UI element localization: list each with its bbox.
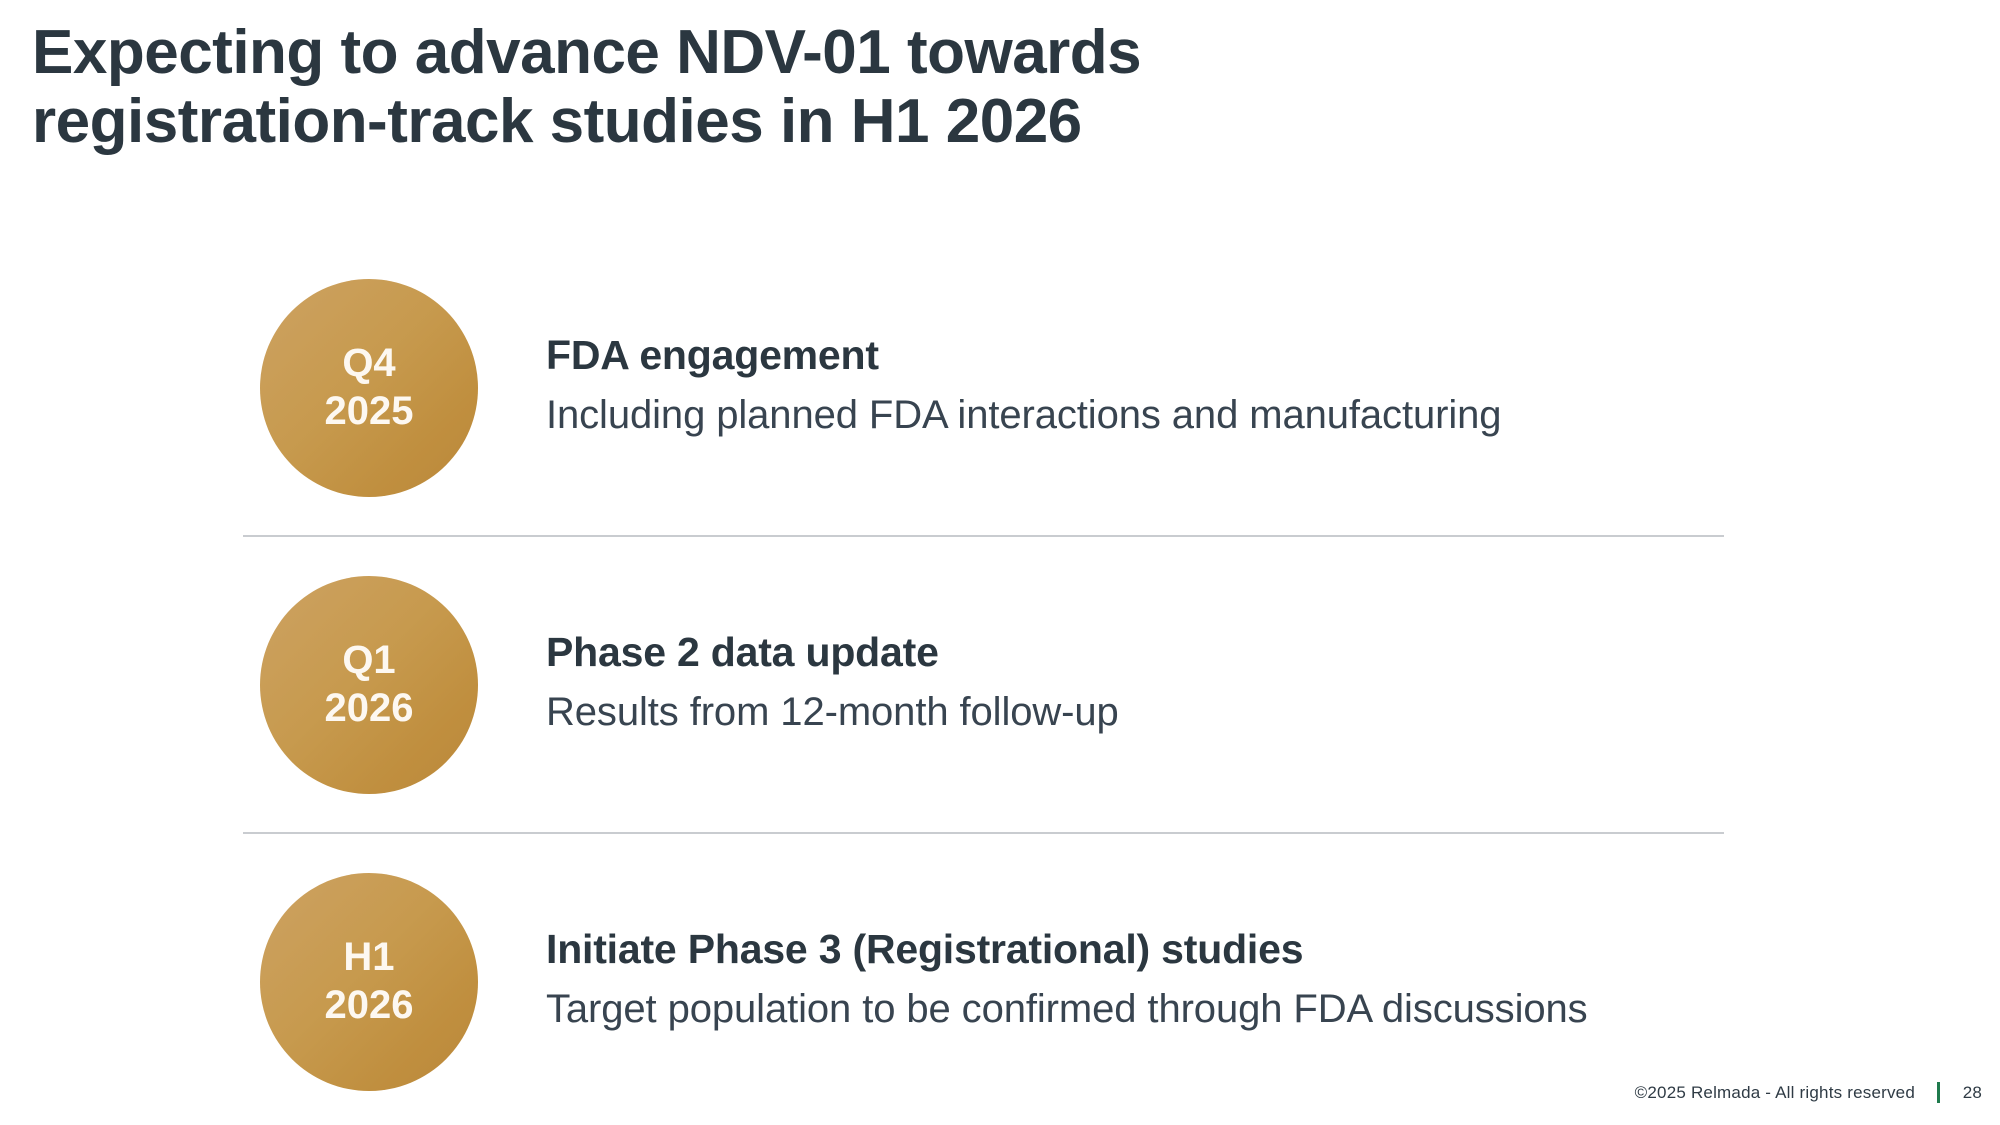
footer-separator bbox=[1937, 1082, 1940, 1103]
timeline-list: Q4 2025 FDA engagement Including planned… bbox=[243, 240, 1724, 1125]
badge-period-label: Q4 bbox=[342, 340, 395, 387]
badge-year-label: 2025 bbox=[325, 388, 414, 435]
copyright-text: ©2025 Relmada - All rights reserved bbox=[1635, 1083, 1915, 1103]
timeline-row-heading: FDA engagement bbox=[546, 329, 1501, 382]
timeline-row-subtext: Target population to be confirmed throug… bbox=[546, 982, 1588, 1036]
timeline-row-subtext: Including planned FDA interactions and m… bbox=[546, 388, 1501, 442]
timeline-row: Q1 2026 Phase 2 data update Results from… bbox=[243, 537, 1724, 832]
timeline-row: Q4 2025 FDA engagement Including planned… bbox=[243, 240, 1724, 535]
timeline-row-text: FDA engagement Including planned FDA int… bbox=[546, 329, 1501, 445]
timeline-row-text: Phase 2 data update Results from 12-mont… bbox=[546, 626, 1119, 742]
page-title: Expecting to advance NDV-01 towards regi… bbox=[32, 18, 1732, 157]
timeline-row-heading: Phase 2 data update bbox=[546, 626, 1119, 679]
timeline-row: H1 2026 Initiate Phase 3 (Registrational… bbox=[243, 834, 1724, 1125]
badge-year-label: 2026 bbox=[325, 982, 414, 1029]
timeline-row-heading: Initiate Phase 3 (Registrational) studie… bbox=[546, 923, 1588, 976]
badge-year-label: 2026 bbox=[325, 685, 414, 732]
slide-root: Expecting to advance NDV-01 towards regi… bbox=[0, 0, 2000, 1125]
badge-period-label: H1 bbox=[343, 934, 394, 981]
page-number: 28 bbox=[1958, 1083, 1982, 1103]
milestone-badge: H1 2026 bbox=[260, 873, 478, 1091]
badge-period-label: Q1 bbox=[342, 637, 395, 684]
timeline-row-subtext: Results from 12-month follow-up bbox=[546, 685, 1119, 739]
slide-footer: ©2025 Relmada - All rights reserved 28 bbox=[1635, 1082, 1982, 1103]
timeline-row-text: Initiate Phase 3 (Registrational) studie… bbox=[546, 923, 1588, 1039]
milestone-badge: Q1 2026 bbox=[260, 576, 478, 794]
milestone-badge: Q4 2025 bbox=[260, 279, 478, 497]
